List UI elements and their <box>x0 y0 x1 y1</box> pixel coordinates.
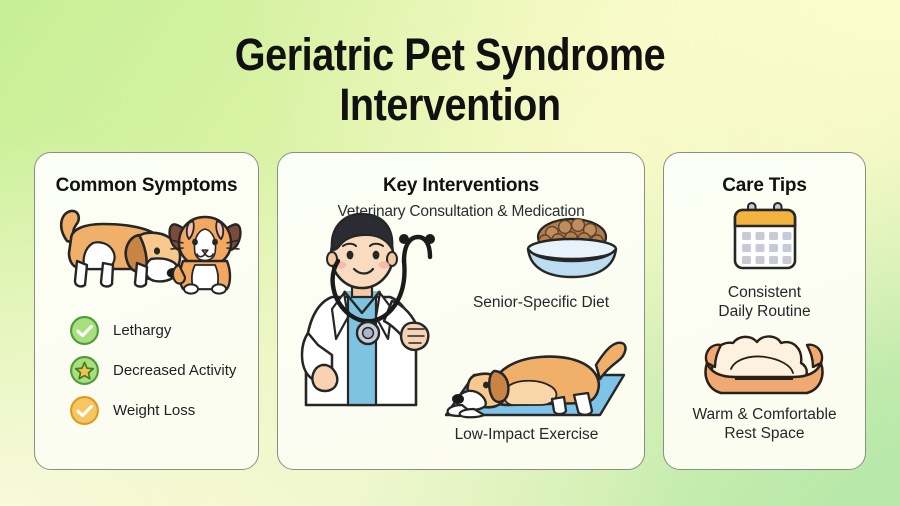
card-title-common-symptoms: Common Symptoms <box>35 175 258 197</box>
symptom-label-lethargy: Lethargy <box>113 322 171 339</box>
caption-consistent-daily-routine: Consistent Daily Routine <box>664 283 865 321</box>
page-title-line-2: Intervention <box>54 80 846 130</box>
card-title-care-tips: Care Tips <box>664 175 865 197</box>
symptom-item-decreased-activity[interactable]: Decreased Activity <box>69 355 236 386</box>
cards-row: Common Symptoms <box>34 152 866 470</box>
caption-line-2: Daily Routine <box>718 303 810 320</box>
pet-bed-illustration <box>699 331 831 402</box>
symptom-item-weight-loss[interactable]: Weight Loss <box>69 395 236 426</box>
dog-illustration <box>61 211 180 287</box>
check-circle-green-icon <box>69 315 100 346</box>
symptom-list: Lethargy Decreased Activity <box>69 315 236 435</box>
caption-senior-specific-diet: Senior-Specific Diet <box>446 293 636 312</box>
caption-low-impact-exercise: Low-Impact Exercise <box>419 425 634 444</box>
symptom-label-weight-loss: Weight Loss <box>113 402 195 419</box>
caption-line-2: Rest Space <box>724 425 804 442</box>
symptom-label-decreased-activity: Decreased Activity <box>113 362 236 379</box>
food-bowl-illustration <box>518 209 626 286</box>
caption-warm-comfortable-rest-space: Warm & Comfortable Rest Space <box>663 405 866 443</box>
pets-illustration-group <box>47 203 247 300</box>
star-circle-green-icon <box>69 355 100 386</box>
card-key-interventions: Key Interventions Veterinary Consultatio… <box>277 152 645 470</box>
dog-on-mat-illustration <box>428 319 640 428</box>
dog-and-cat-illustration <box>47 203 247 295</box>
caption-line-1: Warm & Comfortable <box>692 406 836 423</box>
card-title-key-interventions: Key Interventions <box>278 175 644 197</box>
card-common-symptoms: Common Symptoms <box>34 152 259 470</box>
symptom-item-lethargy[interactable]: Lethargy <box>69 315 236 346</box>
page-title-line-1: Geriatric Pet Syndrome <box>235 29 665 80</box>
page-title: Geriatric Pet Syndrome Intervention <box>54 30 846 130</box>
card-care-tips: Care Tips <box>663 152 866 470</box>
caption-line-1: Consistent <box>728 284 801 301</box>
calendar-icon <box>728 201 802 278</box>
check-circle-orange-icon <box>69 395 100 426</box>
